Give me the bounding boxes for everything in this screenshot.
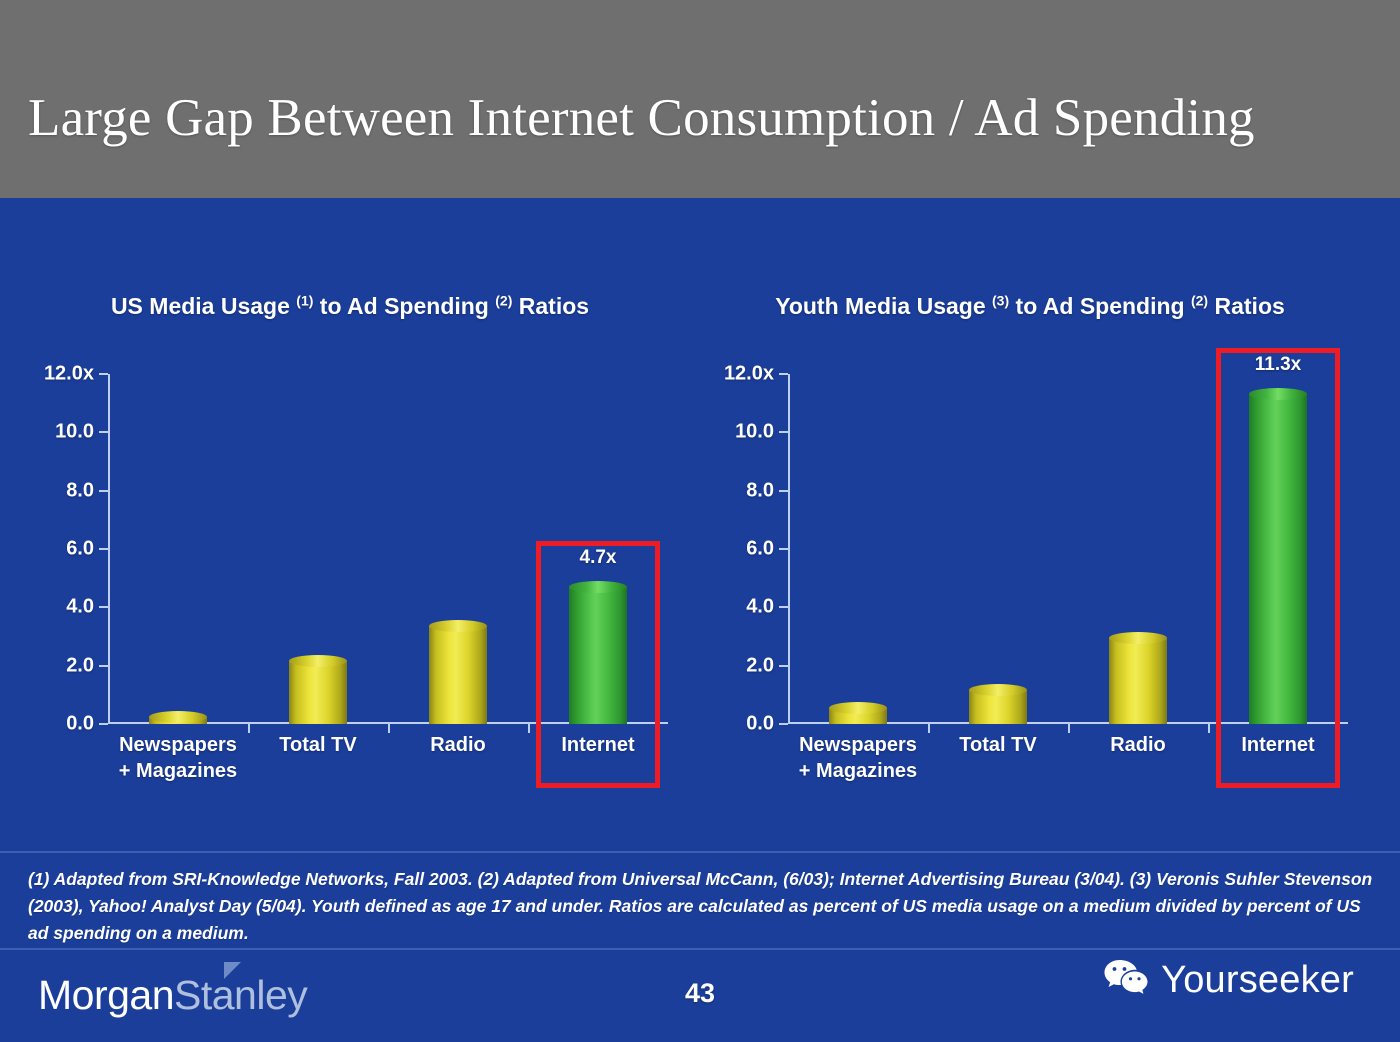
x-axis-label-line: + Magazines: [108, 758, 248, 784]
chart-title-footnote-ref-2: (2): [495, 292, 512, 308]
x-axis-label-line: Internet: [528, 732, 668, 758]
bar-slot: [108, 374, 248, 724]
bar-slot: [248, 374, 388, 724]
footer-divider: [0, 948, 1400, 950]
y-axis-tick: [779, 665, 788, 667]
y-axis-label: 2.0: [746, 654, 774, 677]
y-axis-tick: [779, 490, 788, 492]
x-axis-label-line: Radio: [388, 732, 528, 758]
y-axis-label: 10.0: [735, 421, 774, 444]
footnote-text: (1) Adapted from SRI-Knowledge Networks,…: [28, 866, 1376, 947]
chart-title-part-a: US Media Usage: [111, 293, 296, 319]
y-axis-label: 6.0: [746, 538, 774, 561]
bar-radio[interactable]: [429, 626, 487, 724]
bar-cap: [1249, 388, 1307, 400]
x-axis-category-label: Radio: [388, 732, 528, 758]
morgan-stanley-triangle-icon: [224, 962, 241, 979]
x-axis-label-line: Radio: [1068, 732, 1208, 758]
bar-body: [1249, 394, 1307, 724]
x-axis-category-label: Internet: [528, 732, 668, 758]
y-axis-label: 0.0: [746, 713, 774, 736]
chart-title-part-b: to Ad Spending: [313, 293, 495, 319]
y-axis-tick: [779, 548, 788, 550]
y-axis-label: 12.0x: [724, 363, 774, 386]
chart-title-part-a: Youth Media Usage: [775, 293, 992, 319]
slide-header: Large Gap Between Internet Consumption /…: [0, 0, 1400, 198]
y-axis-tick: [779, 723, 788, 725]
plot-area-us-media-usage: 0.02.04.06.08.010.012.0x4.7x: [108, 374, 668, 724]
y-axis-tick: [99, 373, 108, 375]
bar-internet[interactable]: [569, 587, 627, 724]
x-axis-label-line: Newspapers: [788, 732, 928, 758]
bar-cap: [1109, 632, 1167, 644]
bar-internet[interactable]: [1249, 394, 1307, 724]
y-axis-tick: [779, 431, 788, 433]
watermark-text: Yourseeker: [1161, 959, 1354, 1002]
bar-cap: [969, 684, 1027, 696]
bar-value-label: 11.3x: [1255, 354, 1302, 376]
bar-cap: [569, 581, 627, 593]
y-axis-label: 0.0: [66, 713, 94, 736]
chart-panel-youth-media-usage: Youth Media Usage (3) to Ad Spending (2)…: [700, 270, 1360, 830]
bar-newspapers-magazines[interactable]: [829, 708, 887, 724]
x-axis-category-label: Radio: [1068, 732, 1208, 758]
x-axis-label-line: Newspapers: [108, 732, 248, 758]
chart-title-part-b: to Ad Spending: [1009, 293, 1191, 319]
chart-title-youth-media-usage: Youth Media Usage (3) to Ad Spending (2)…: [700, 288, 1360, 324]
x-axis-label-line: + Magazines: [788, 758, 928, 784]
y-axis-label: 6.0: [66, 538, 94, 561]
watermark: Yourseeker: [1103, 958, 1354, 1003]
y-axis-tick: [99, 431, 108, 433]
bar-total-tv[interactable]: [289, 661, 347, 724]
bar-slot: [928, 374, 1068, 724]
y-axis-label: 12.0x: [44, 363, 94, 386]
bar-body: [289, 661, 347, 724]
bar-cap: [289, 655, 347, 667]
chart-title-part-c: Ratios: [1208, 293, 1285, 319]
bar-slot: [788, 374, 928, 724]
x-axis-category-label: Total TV: [248, 732, 388, 758]
bar-cap: [149, 711, 207, 723]
chart-title-footnote-ref-3: (3): [992, 292, 1009, 308]
x-axis-label-line: Internet: [1208, 732, 1348, 758]
y-axis-tick: [779, 606, 788, 608]
chart-title-part-c: Ratios: [512, 293, 589, 319]
page-title: Large Gap Between Internet Consumption /…: [28, 88, 1255, 148]
bar-cap: [429, 620, 487, 632]
x-axis-category-label: Internet: [1208, 732, 1348, 758]
x-axis-label-line: Total TV: [928, 732, 1068, 758]
chart-panel-us-media-usage: US Media Usage (1) to Ad Spending (2) Ra…: [20, 270, 680, 830]
plot-area-youth-media-usage: 0.02.04.06.08.010.012.0x11.3x: [788, 374, 1348, 724]
y-axis-tick: [779, 373, 788, 375]
bar-slot: [388, 374, 528, 724]
bar-slot: 4.7x: [528, 374, 668, 724]
bar-total-tv[interactable]: [969, 690, 1027, 724]
y-axis-tick: [99, 490, 108, 492]
bar-cap: [829, 702, 887, 714]
y-axis-tick: [99, 665, 108, 667]
y-axis-tick: [99, 606, 108, 608]
chart-title-us-media-usage: US Media Usage (1) to Ad Spending (2) Ra…: [20, 288, 680, 324]
slide: Large Gap Between Internet Consumption /…: [0, 0, 1400, 1042]
bar-slot: 11.3x: [1208, 374, 1348, 724]
y-axis-label: 4.0: [746, 596, 774, 619]
wechat-icon: [1103, 958, 1149, 1003]
x-axis-label-line: Total TV: [248, 732, 388, 758]
bar-body: [429, 626, 487, 724]
y-axis-label: 8.0: [66, 479, 94, 502]
bar-radio[interactable]: [1109, 638, 1167, 724]
chart-title-footnote-ref-2: (2): [1191, 292, 1208, 308]
x-axis-category-label: Newspapers+ Magazines: [108, 732, 248, 784]
chart-title-footnote-ref-1: (1): [296, 292, 313, 308]
y-axis-label: 10.0: [55, 421, 94, 444]
bar-newspapers-magazines[interactable]: [149, 717, 207, 724]
y-axis-tick: [99, 723, 108, 725]
bar-body: [569, 587, 627, 724]
bar-value-label: 4.7x: [580, 547, 617, 569]
y-axis-tick: [99, 548, 108, 550]
bar-slot: [1068, 374, 1208, 724]
bar-body: [1109, 638, 1167, 724]
x-axis-category-label: Newspapers+ Magazines: [788, 732, 928, 784]
footnote-divider: [0, 851, 1400, 853]
y-axis-label: 8.0: [746, 479, 774, 502]
y-axis-label: 2.0: [66, 654, 94, 677]
y-axis-label: 4.0: [66, 596, 94, 619]
x-axis-category-label: Total TV: [928, 732, 1068, 758]
